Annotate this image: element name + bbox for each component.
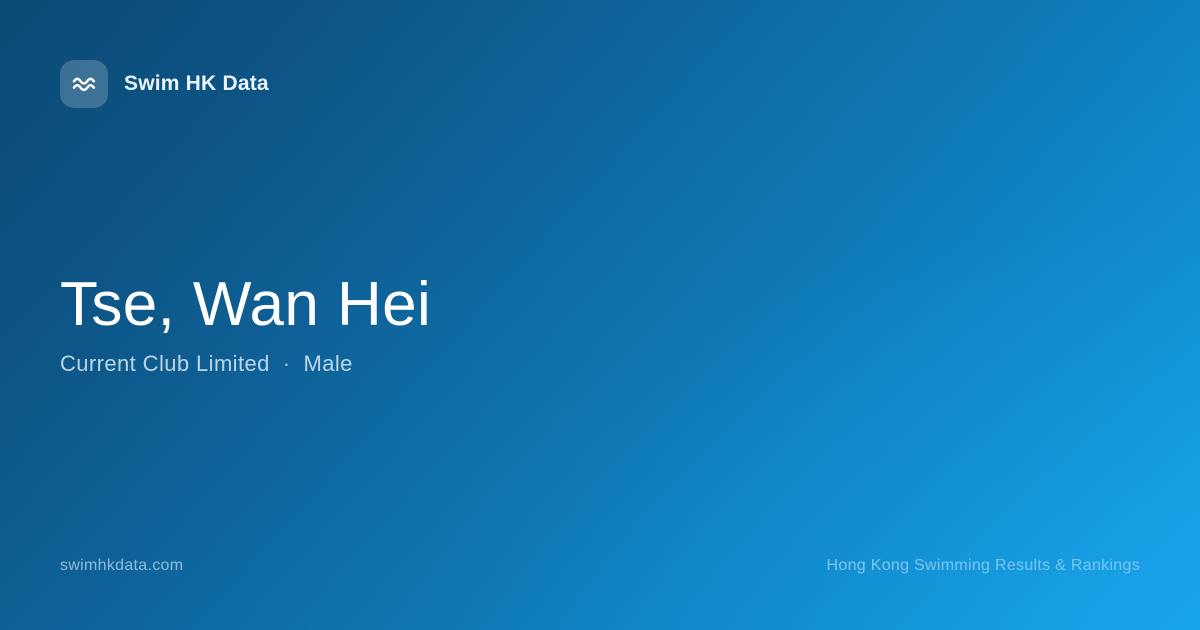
footer-tagline: Hong Kong Swimming Results & Rankings — [827, 557, 1140, 575]
share-card: Swim HK Data Tse, Wan Hei Current Club L… — [0, 0, 1200, 630]
page-title: Tse, Wan Hei — [60, 272, 431, 337]
brand-lockup: Swim HK Data — [60, 60, 269, 108]
athlete-meta: Current Club Limited · Male — [60, 351, 431, 377]
athlete-gender: Male — [303, 351, 352, 377]
athlete-summary: Tse, Wan Hei Current Club Limited · Male — [60, 272, 431, 377]
footer: swimhkdata.com Hong Kong Swimming Result… — [60, 557, 1140, 575]
waves-icon — [60, 60, 108, 108]
footer-site: swimhkdata.com — [60, 557, 183, 575]
athlete-club: Current Club Limited — [60, 351, 270, 377]
brand-name: Swim HK Data — [124, 72, 269, 96]
meta-separator: · — [283, 351, 291, 377]
